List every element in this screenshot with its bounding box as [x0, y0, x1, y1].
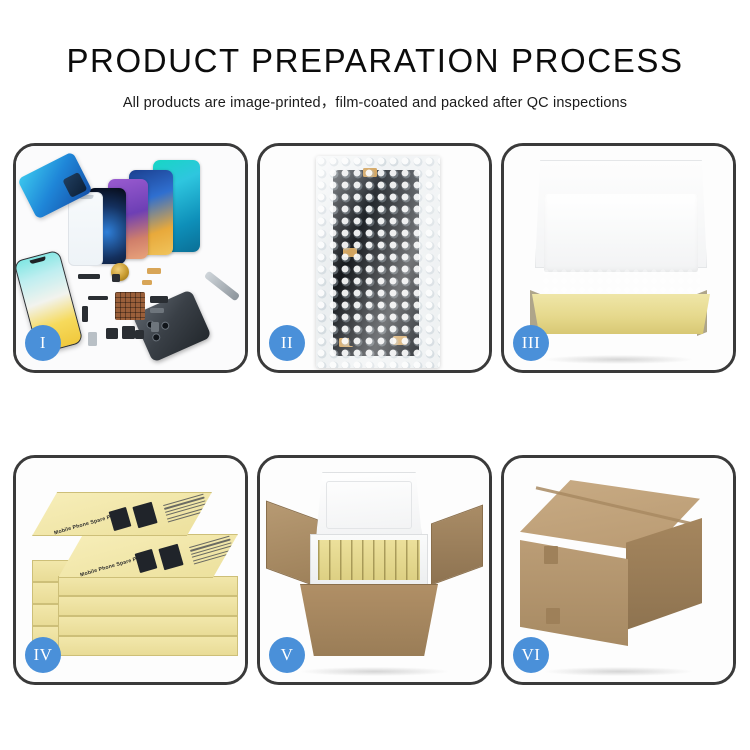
step-badge-4: IV [25, 637, 61, 673]
carton-front-face [520, 540, 628, 646]
stacked-box-top-face: Mobile Phone Spare Parts [32, 492, 212, 536]
header: PRODUCT PREPARATION PROCESS All products… [0, 0, 750, 112]
yellow-boxes-inside [318, 540, 420, 580]
stacked-box [58, 596, 238, 616]
step-badge-2: II [269, 325, 305, 361]
component-part [151, 322, 159, 332]
box-label-product-image [158, 544, 183, 571]
process-step-panel-1: I [13, 143, 248, 373]
step-badge-5: V [269, 637, 305, 673]
stacked-box-top-face: Mobile Phone Spare Parts [58, 534, 238, 578]
box-label-spec-lines [163, 494, 209, 525]
component-part [112, 274, 120, 282]
page-subtitle: All products are image-printed，film-coat… [0, 91, 750, 112]
component-part [135, 330, 144, 339]
component-part [82, 306, 88, 322]
page-title: PRODUCT PREPARATION PROCESS [0, 42, 750, 80]
process-step-panel-4: Mobile Phone Spare Parts Mobile Phone Sp… [13, 455, 248, 685]
process-step-panel-3: III [501, 143, 736, 373]
component-part [150, 296, 168, 303]
product-preparation-infographic: PRODUCT PREPARATION PROCESS All products… [0, 0, 750, 750]
box-label-product-image [109, 507, 132, 531]
drop-shadow [545, 667, 692, 676]
component-part [88, 296, 108, 300]
component-part [142, 280, 152, 285]
box-label-product-image [132, 502, 157, 529]
chip-grid-icon [115, 292, 145, 320]
stacked-box [58, 636, 238, 656]
process-step-panel-2: II [257, 143, 492, 373]
drop-shadow [545, 355, 692, 364]
process-step-panel-5: V [257, 455, 492, 685]
tempered-glass-icon [68, 192, 103, 266]
component-part [122, 326, 135, 339]
camera-lens-icon [160, 320, 171, 331]
component-part [88, 332, 97, 346]
carton-flap-right [431, 505, 483, 586]
component-part [150, 308, 164, 313]
step-badge-1: I [25, 325, 61, 361]
component-part [147, 268, 161, 274]
step-badge-6: VI [513, 637, 549, 673]
plastic-sheen [316, 156, 440, 368]
component-part [78, 274, 100, 279]
foam-sheet [544, 194, 698, 272]
box-label-spec-lines [189, 536, 235, 567]
carton-front-panel [300, 584, 438, 656]
component-part [106, 328, 118, 339]
carton-flap-tab [544, 546, 558, 564]
box-label-product-image [135, 549, 158, 573]
stacked-box [58, 616, 238, 636]
camera-lens-icon [151, 332, 162, 343]
drop-shadow [301, 667, 448, 676]
stacked-box [58, 576, 238, 596]
foam-box-lid [316, 472, 422, 538]
process-step-grid: I II [13, 143, 737, 693]
step-badge-3: III [513, 325, 549, 361]
process-step-panel-6: VI [501, 455, 736, 685]
wrapped-screens-inside-box [542, 268, 700, 298]
bubble-wrap-bag [316, 156, 440, 368]
carton-flap-tab [546, 608, 560, 624]
box-front-panel [532, 294, 710, 334]
